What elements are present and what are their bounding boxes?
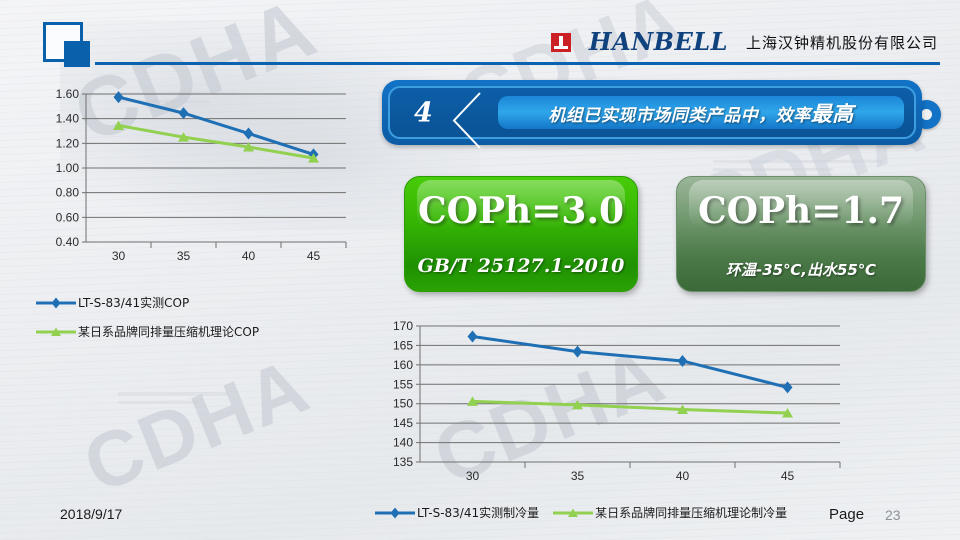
footer-page-number: 23 — [885, 507, 901, 523]
x-tick-label: 30 — [112, 249, 126, 263]
y-tick-label: 140 — [393, 436, 413, 450]
series-line — [473, 401, 788, 413]
series-line — [119, 125, 314, 158]
y-tick-label: 0.80 — [56, 186, 80, 200]
series-line — [119, 97, 314, 154]
legend-marker-line-triangle-icon — [36, 325, 76, 339]
footer-date: 2018/9/17 — [60, 506, 122, 522]
footer-page-label: Page — [829, 506, 864, 523]
y-tick-label: 170 — [393, 319, 413, 333]
legend-item[interactable]: LT-S-83/41实测制冷量 — [375, 504, 539, 521]
callout-value: COPh=3.0 — [418, 193, 624, 229]
legend-label: LT-S-83/41实测制冷量 — [417, 504, 539, 521]
chart-capacity-plot: 13514014515015516016517030354045 — [368, 314, 938, 494]
legend-label: 某日系品牌同排量压缩机理论制冷量 — [595, 504, 787, 521]
legend-label: LT-S-83/41实测COP — [78, 294, 189, 311]
callout-box-cop-3: COPh=3.0 GB/T 25127.1-2010 — [404, 176, 638, 292]
x-tick-label: 35 — [571, 469, 585, 483]
y-tick-label: 135 — [393, 455, 413, 469]
data-point-marker — [114, 91, 124, 103]
title-banner-inner: 4 机组已实现市场同类产品中，效率最高 — [388, 86, 916, 139]
chart-cop-legend: LT-S-83/41实测COP 某日系品牌同排量压缩机理论COP — [36, 294, 259, 340]
legend-item[interactable]: 某日系品牌同排量压缩机理论COP — [36, 323, 259, 340]
legend-marker-line-diamond-icon — [36, 296, 76, 310]
banner-pill: 机组已实现市场同类产品中，效率最高 — [498, 96, 904, 129]
brand-company-name: 上海汉钟精机股份有限公司 — [746, 32, 938, 53]
chevron-left-icon — [450, 92, 486, 149]
x-tick-label: 40 — [676, 469, 690, 483]
legend-item[interactable]: LT-S-83/41实测COP — [36, 294, 259, 311]
data-point-marker — [179, 107, 189, 119]
logo-square-filled-icon — [64, 41, 90, 67]
series-line — [473, 336, 788, 387]
data-point-marker — [783, 381, 793, 393]
x-tick-label: 30 — [466, 469, 480, 483]
x-tick-label: 45 — [307, 249, 321, 263]
x-tick-label: 40 — [242, 249, 256, 263]
banner-title-emphasis: 最高 — [811, 102, 854, 126]
callout-caption: 环温-35℃,出水55℃ — [726, 259, 876, 280]
y-tick-label: 165 — [393, 338, 413, 352]
legend-item[interactable]: 某日系品牌同排量压缩机理论制冷量 — [553, 504, 787, 521]
legend-marker-line-diamond-icon — [375, 506, 415, 520]
x-tick-label: 45 — [781, 469, 795, 483]
y-tick-label: 0.60 — [56, 210, 80, 224]
callout-value: COPh=1.7 — [698, 193, 904, 229]
hanbell-logo-icon — [551, 33, 571, 52]
header-rule — [95, 62, 940, 65]
y-tick-label: 1.20 — [56, 136, 80, 150]
chart-cop: 0.400.600.801.001.201.401.6030354045 — [24, 82, 354, 287]
y-tick-label: 150 — [393, 397, 413, 411]
brand-wordmark: HANBELL — [589, 30, 728, 54]
data-point-marker — [573, 346, 583, 358]
y-tick-label: 1.40 — [56, 112, 80, 126]
x-tick-label: 35 — [177, 249, 191, 263]
legend-marker-line-triangle-icon — [553, 506, 593, 520]
banner-title-main: 机组已实现市场同类产品中，效率 — [548, 106, 811, 126]
y-tick-label: 155 — [393, 377, 413, 391]
banner-title: 机组已实现市场同类产品中，效率最高 — [548, 98, 854, 128]
legend-label: 某日系品牌同排量压缩机理论COP — [78, 323, 259, 340]
banner-step-number: 4 — [414, 97, 433, 128]
brand-bar: HANBELL 上海汉钟精机股份有限公司 — [551, 30, 938, 54]
slide-canvas: CDHA CDHA CDHA CDHA CDHA HANBELL 上海汉钟精机股… — [0, 0, 960, 540]
chart-cop-plot: 0.400.600.801.001.201.401.6030354045 — [24, 82, 354, 287]
callout-caption: GB/T 25127.1-2010 — [418, 255, 625, 277]
y-tick-label: 1.60 — [56, 87, 80, 101]
callout-box-cop-17: COPh=1.7 环温-35℃,出水55℃ — [676, 176, 926, 292]
y-tick-label: 145 — [393, 416, 413, 430]
chart-capacity: 13514014515015516016517030354045 — [368, 314, 938, 494]
title-banner: 4 机组已实现市场同类产品中，效率最高 — [382, 80, 922, 145]
y-tick-label: 160 — [393, 358, 413, 372]
data-point-marker — [244, 127, 254, 139]
y-tick-label: 0.40 — [56, 235, 80, 249]
chart-capacity-legend: LT-S-83/41实测制冷量 某日系品牌同排量压缩机理论制冷量 — [375, 504, 787, 521]
y-tick-label: 1.00 — [56, 161, 80, 175]
data-point-marker — [468, 330, 478, 342]
